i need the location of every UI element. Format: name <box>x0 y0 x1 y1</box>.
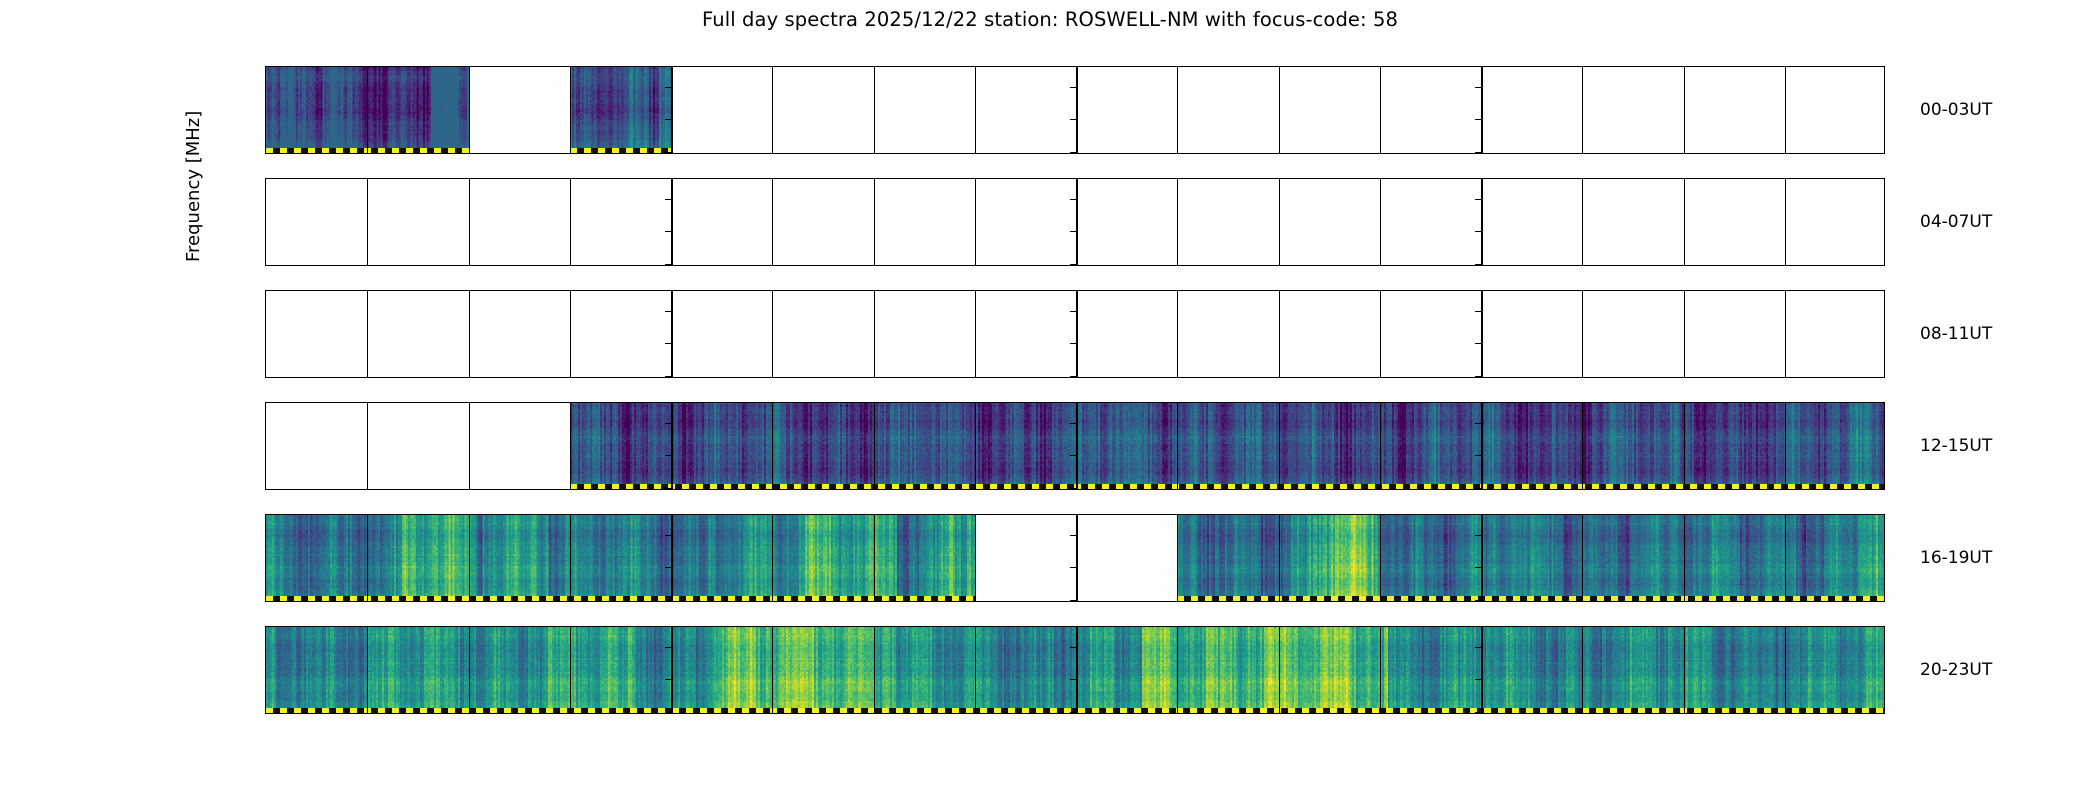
grid-line <box>1076 403 1078 489</box>
grid-line <box>874 403 875 489</box>
interior-tick <box>1070 87 1076 88</box>
grid-line <box>1785 627 1786 713</box>
grid-line <box>1177 67 1178 153</box>
grid-line <box>1076 627 1078 713</box>
grid-line <box>469 515 470 601</box>
grid-line <box>1582 67 1583 153</box>
grid-line <box>874 627 875 713</box>
y-axis-label: Frequency [MHz] <box>183 111 204 262</box>
x-axis-tick <box>1785 713 1786 714</box>
grid-line <box>772 67 773 153</box>
grid-line <box>1177 403 1178 489</box>
interior-tick <box>1070 455 1076 456</box>
interior-tick <box>1475 423 1481 424</box>
interior-tick <box>1475 119 1481 120</box>
grid-line <box>1582 179 1583 265</box>
y-axis-tick <box>265 423 266 424</box>
data-coverage-marker <box>1177 596 1885 601</box>
grid-line <box>1076 179 1078 265</box>
interior-tick <box>1070 567 1076 568</box>
spectrogram-segment <box>570 67 671 153</box>
y-axis-tick <box>265 199 266 200</box>
interior-tick <box>1070 488 1076 489</box>
interior-tick <box>1475 311 1481 312</box>
grid-line <box>469 627 470 713</box>
interior-tick <box>665 455 671 456</box>
row-time-label: 04-07UT <box>1920 212 1992 232</box>
x-axis-tick <box>1279 713 1280 714</box>
spectra-panel: 20406000153045001530450015304500153045 <box>265 626 1885 714</box>
interior-tick <box>1070 535 1076 536</box>
interior-tick <box>1475 600 1481 601</box>
y-axis-tick <box>265 600 266 601</box>
grid-line <box>1785 67 1786 153</box>
interior-tick <box>1070 647 1076 648</box>
interior-tick <box>1070 199 1076 200</box>
grid-line <box>772 515 773 601</box>
grid-line <box>772 403 773 489</box>
interior-tick <box>665 231 671 232</box>
y-axis-tick <box>265 679 266 680</box>
grid-line <box>772 291 773 377</box>
grid-line <box>469 67 470 153</box>
interior-tick <box>1475 647 1481 648</box>
grid-line <box>469 179 470 265</box>
x-axis-tick <box>1076 713 1077 714</box>
grid-line <box>1279 179 1280 265</box>
y-axis-tick <box>265 647 266 648</box>
x-axis-tick <box>874 713 875 714</box>
interior-tick <box>1475 231 1481 232</box>
grid-line <box>1279 403 1280 489</box>
x-axis-tick <box>570 713 571 714</box>
interior-tick <box>1475 488 1481 489</box>
row-time-label: 00-03UT <box>1920 100 1992 120</box>
grid-line <box>1582 291 1583 377</box>
grid-line <box>1279 627 1280 713</box>
grid-line <box>1785 403 1786 489</box>
y-axis-tick <box>265 231 266 232</box>
grid-line <box>1582 403 1583 489</box>
interior-tick <box>1070 423 1076 424</box>
grid-line <box>874 179 875 265</box>
interior-tick <box>1070 679 1076 680</box>
interior-tick <box>665 488 671 489</box>
grid-line <box>1177 291 1178 377</box>
grid-line <box>1279 291 1280 377</box>
grid-line <box>570 67 571 153</box>
x-axis-tick <box>1177 713 1178 714</box>
interior-tick <box>665 647 671 648</box>
y-axis-tick <box>265 455 266 456</box>
spectra-panel: 204060 <box>265 514 1885 602</box>
y-axis-tick <box>265 264 266 265</box>
row-time-label: 08-11UT <box>1920 324 1992 344</box>
spectrogram-segment <box>570 403 1885 489</box>
y-axis-tick <box>265 376 266 377</box>
spectra-panel: 204060 <box>265 402 1885 490</box>
spectra-panel: 204060 <box>265 178 1885 266</box>
x-axis-tick <box>1582 713 1583 714</box>
x-axis-tick <box>367 713 368 714</box>
axes-stack: 20406000-03UT20406004-07UT20406008-11UT2… <box>265 66 1885 714</box>
interior-tick <box>665 152 671 153</box>
data-coverage-marker <box>266 596 975 601</box>
interior-tick <box>1475 455 1481 456</box>
x-axis-tick <box>1684 713 1685 714</box>
grid-line <box>1177 627 1178 713</box>
grid-line <box>1684 291 1685 377</box>
grid-line <box>874 291 875 377</box>
interior-tick <box>665 119 671 120</box>
grid-line <box>469 291 470 377</box>
x-axis-tick <box>975 713 976 714</box>
y-axis-tick <box>265 343 266 344</box>
y-axis-tick <box>265 488 266 489</box>
grid-line <box>1582 515 1583 601</box>
grid-line <box>367 403 368 489</box>
interior-tick <box>1475 376 1481 377</box>
grid-line <box>367 291 368 377</box>
interior-tick <box>1070 311 1076 312</box>
interior-tick <box>665 600 671 601</box>
y-axis-tick <box>265 311 266 312</box>
grid-line <box>1177 515 1178 601</box>
grid-line <box>1380 403 1381 489</box>
grid-line <box>469 403 470 489</box>
spectrogram-segment <box>1177 515 1885 601</box>
grid-line <box>1380 291 1381 377</box>
grid-line <box>671 403 673 489</box>
interior-tick <box>665 567 671 568</box>
grid-line <box>1481 515 1483 601</box>
grid-line <box>570 291 571 377</box>
y-axis-tick <box>265 567 266 568</box>
grid-line <box>975 291 976 377</box>
interior-tick <box>1070 600 1076 601</box>
spectra-figure: Full day spectra 2025/12/22 station: ROS… <box>0 0 2100 800</box>
grid-line <box>1481 403 1483 489</box>
grid-line <box>1481 291 1483 377</box>
grid-line <box>975 403 976 489</box>
grid-line <box>772 179 773 265</box>
interior-tick <box>665 199 671 200</box>
page-title: Full day spectra 2025/12/22 station: ROS… <box>0 8 2100 31</box>
grid-line <box>1785 179 1786 265</box>
grid-line <box>1380 179 1381 265</box>
data-coverage-marker <box>570 148 671 153</box>
grid-line <box>1380 515 1381 601</box>
spectra-panel: 204060 <box>265 66 1885 154</box>
grid-line <box>1279 67 1280 153</box>
grid-line <box>1684 627 1685 713</box>
interior-tick <box>665 423 671 424</box>
interior-tick <box>1070 376 1076 377</box>
interior-tick <box>665 679 671 680</box>
grid-line <box>1481 67 1483 153</box>
grid-line <box>367 179 368 265</box>
grid-line <box>975 67 976 153</box>
interior-tick <box>1070 343 1076 344</box>
grid-line <box>671 67 673 153</box>
interior-tick <box>665 535 671 536</box>
grid-line <box>1076 67 1078 153</box>
interior-tick <box>1070 152 1076 153</box>
interior-tick <box>665 311 671 312</box>
grid-line <box>1076 291 1078 377</box>
grid-line <box>1785 515 1786 601</box>
row-time-label: 20-23UT <box>1920 660 1992 680</box>
grid-line <box>671 627 673 713</box>
x-axis-tick <box>671 713 672 714</box>
x-axis-tick <box>772 713 773 714</box>
grid-line <box>1076 515 1078 601</box>
grid-line <box>1684 515 1685 601</box>
x-axis-tick <box>266 713 267 714</box>
grid-line <box>1279 515 1280 601</box>
grid-line <box>570 179 571 265</box>
grid-line <box>975 515 976 601</box>
grid-line <box>1380 627 1381 713</box>
y-axis-tick <box>265 87 266 88</box>
interior-tick <box>665 343 671 344</box>
x-axis-tick <box>1380 713 1381 714</box>
interior-tick <box>1475 152 1481 153</box>
grid-line <box>1684 179 1685 265</box>
spectrogram-segment <box>266 515 975 601</box>
grid-line <box>1380 67 1381 153</box>
grid-line <box>975 627 976 713</box>
grid-line <box>367 515 368 601</box>
grid-line <box>570 403 571 489</box>
grid-line <box>975 179 976 265</box>
interior-tick <box>1475 87 1481 88</box>
grid-line <box>874 515 875 601</box>
interior-tick <box>1475 535 1481 536</box>
grid-line <box>367 627 368 713</box>
grid-line <box>772 627 773 713</box>
x-axis-tick <box>469 713 470 714</box>
y-axis-tick <box>265 535 266 536</box>
grid-line <box>671 291 673 377</box>
grid-line <box>570 627 571 713</box>
y-axis-tick <box>265 119 266 120</box>
grid-line <box>1582 627 1583 713</box>
spectra-panel: 204060 <box>265 290 1885 378</box>
grid-line <box>874 67 875 153</box>
row-time-label: 12-15UT <box>1920 436 1992 456</box>
grid-line <box>570 515 571 601</box>
interior-tick <box>665 376 671 377</box>
grid-line <box>1785 291 1786 377</box>
interior-tick <box>1475 199 1481 200</box>
grid-line <box>1684 403 1685 489</box>
grid-line <box>1481 179 1483 265</box>
x-axis-tick <box>1481 713 1482 714</box>
grid-line <box>671 515 673 601</box>
interior-tick <box>665 264 671 265</box>
interior-tick <box>1475 343 1481 344</box>
interior-tick <box>1475 264 1481 265</box>
interior-tick <box>1070 231 1076 232</box>
interior-tick <box>1070 264 1076 265</box>
interior-tick <box>1475 567 1481 568</box>
grid-line <box>671 179 673 265</box>
interior-tick <box>665 87 671 88</box>
grid-line <box>1684 67 1685 153</box>
grid-line <box>1481 627 1483 713</box>
interior-tick <box>1475 679 1481 680</box>
row-time-label: 16-19UT <box>1920 548 1992 568</box>
data-coverage-marker <box>570 484 1885 489</box>
grid-line <box>1177 179 1178 265</box>
interior-tick <box>1070 119 1076 120</box>
y-axis-tick <box>265 152 266 153</box>
grid-line <box>367 67 368 153</box>
